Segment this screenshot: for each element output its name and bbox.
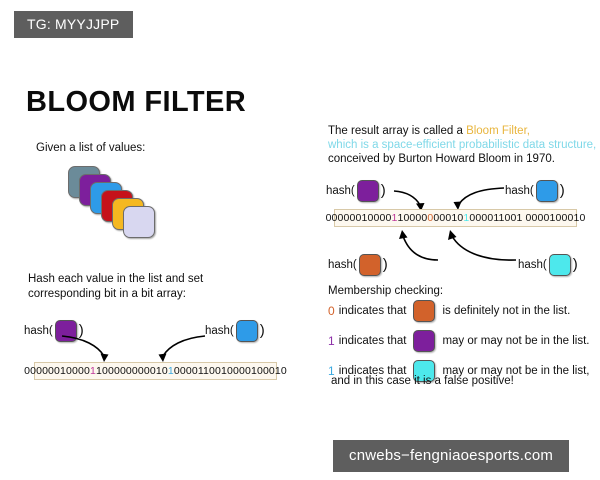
membership-row-2-continuation: and in this case it is a false positive! [331,374,514,389]
value-card-stack [68,166,154,240]
hash-label-right: hash( ) [205,320,265,342]
hash-text-prefix: hash( [326,185,355,197]
hash-label-top-left: hash( ) [326,180,386,202]
membership-row-1: 1 indicates that may or may not be in th… [328,330,589,352]
given-list-label: Given a list of values: [36,141,145,156]
membership-swatch-orange [413,300,435,322]
hash-text-suffix: ) [383,257,388,272]
hash-text-suffix: ) [560,183,565,198]
hash-label-top-right: hash( ) [505,180,565,202]
hash-swatch-blue [536,180,558,202]
hash-label-bottom-right: hash( ) [518,254,578,276]
hash-swatch-blue [236,320,258,342]
membership-heading: Membership checking: [328,284,443,299]
hash-swatch-purple [357,180,379,202]
membership-post-text: may or may not be in the list. [442,335,589,347]
watermark-bottom: cnwebs−fengniaoesports.com [333,440,569,472]
watermark-top: TG: MYYJJPP [14,11,133,38]
intro-line-3: conceived by Burton Howard Bloom in 1970… [328,152,555,167]
bit-run: 00010 [433,212,463,224]
membership-pre-text: indicates that [339,335,407,347]
bit-run: 10000 [397,212,427,224]
page-title: BLOOM FILTER [26,86,246,119]
hash-text-suffix: ) [381,183,386,198]
value-card [123,206,155,238]
bit-run: 100000000010 [96,365,168,377]
slide-canvas: TG: MYYJJPP BLOOM FILTER Given a list of… [0,0,600,480]
hash-swatch-cyan [549,254,571,276]
bit-array-left: 0000001000011000000000101000011001000010… [34,362,277,380]
bit-run: 000011001 0000100010 [469,212,585,224]
hash-text-prefix: hash( [24,325,53,337]
hash-text-suffix: ) [260,323,265,338]
membership-digit: 0 [328,304,335,318]
membership-swatch-purple [413,330,435,352]
intro-line-2: which is a space-efficient probabilistic… [328,138,596,153]
instruction-line-1: Hash each value in the list and set [28,272,203,287]
instruction-line-2: corresponding bit in a bit array: [28,287,186,302]
bit-run: 00000010000 [24,365,90,377]
membership-post-text: is definitely not in the list. [442,305,570,317]
intro-text-a: The result array is called a [328,125,466,137]
hash-label-bottom-left: hash( ) [328,254,388,276]
hash-text-suffix: ) [573,257,578,272]
arrow-cyan-to-bit [430,228,520,262]
bit-array-right: 000000100001100000000101000011001 000010… [334,209,577,227]
membership-row-0: 0 indicates that is definitely not in th… [328,300,570,322]
intro-line-1: The result array is called a Bloom Filte… [328,124,530,139]
hash-text-prefix: hash( [518,259,547,271]
membership-pre-text: indicates that [339,305,407,317]
hash-text-prefix: hash( [328,259,357,271]
hash-swatch-orange [359,254,381,276]
membership-digit: 1 [328,334,335,348]
bit-run: 00000010000 [326,212,392,224]
bit-run: 0000110010000100010 [174,365,287,377]
bloom-filter-term: Bloom Filter, [466,125,530,137]
